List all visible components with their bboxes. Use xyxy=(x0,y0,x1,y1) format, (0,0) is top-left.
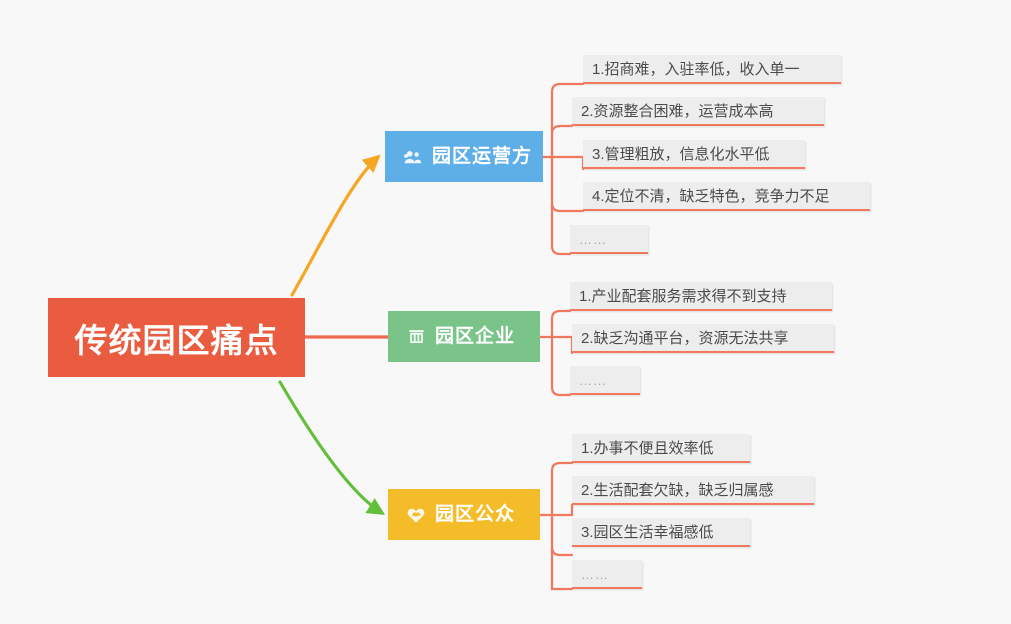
connector-group-enterprise xyxy=(540,311,572,395)
leaf-node[interactable]: 3.管理粗放，信息化水平低 xyxy=(583,140,805,169)
leaf-node[interactable]: 4.定位不清，缺乏特色，竞争力不足 xyxy=(583,182,870,211)
root-node[interactable]: 传统园区痛点 xyxy=(48,298,305,377)
branch-node-label: 园区企业 xyxy=(435,327,515,346)
leaf-node[interactable]: 1.招商难，入驻率低，收入单一 xyxy=(583,55,841,84)
leaf-node[interactable]: 2.生活配套欠缺，缺乏归属感 xyxy=(572,476,814,505)
connector-root-to-public xyxy=(280,382,382,513)
branch-node-label: 园区公众 xyxy=(435,505,515,524)
branch-node-label: 园区运营方 xyxy=(432,147,532,166)
branch-node-operator[interactable]: 园区运营方 xyxy=(385,131,543,182)
leaf-node-ellipsis[interactable]: …… xyxy=(572,560,642,589)
mindmap-canvas: 传统园区痛点 园区运营方 园区企业 xyxy=(0,0,1011,624)
heart-handshake-icon xyxy=(406,505,426,525)
leaf-node[interactable]: 1.产业配套服务需求得不到支持 xyxy=(570,282,832,311)
leaf-node-ellipsis[interactable]: …… xyxy=(570,366,640,395)
building-icon xyxy=(406,327,426,347)
leaf-node[interactable]: 2.缺乏沟通平台，资源无法共享 xyxy=(572,324,834,353)
leaf-node[interactable]: 1.办事不便且效率低 xyxy=(572,434,750,463)
branch-node-enterprise[interactable]: 园区企业 xyxy=(388,311,540,362)
branch-node-public[interactable]: 园区公众 xyxy=(388,489,540,540)
connector-root-to-operator xyxy=(292,157,378,295)
users-group-icon xyxy=(403,147,423,167)
leaf-node-ellipsis[interactable]: …… xyxy=(570,225,648,254)
root-node-label: 传统园区痛点 xyxy=(75,314,279,362)
connector-group-public xyxy=(540,463,572,589)
leaf-node[interactable]: 2.资源整合困难，运营成本高 xyxy=(572,97,824,126)
leaf-node[interactable]: 3.园区生活幸福感低 xyxy=(572,518,750,547)
